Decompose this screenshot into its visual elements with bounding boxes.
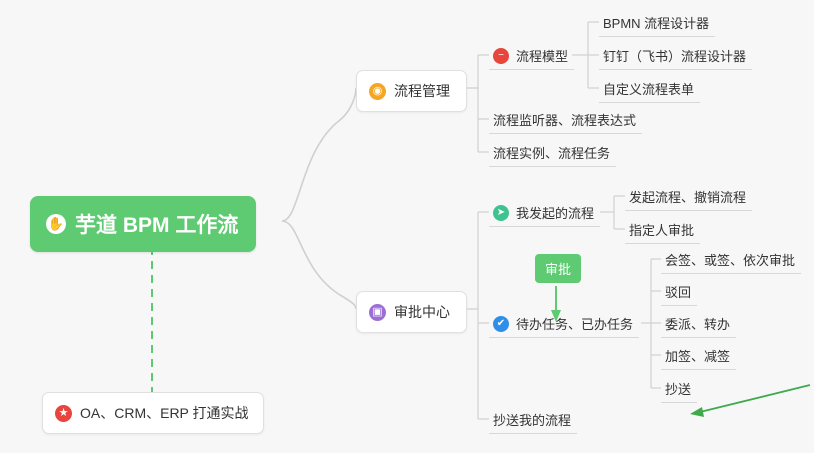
node-process-model-label: 流程模型 <box>516 46 568 65</box>
node-cc-to-me-label: 抄送我的流程 <box>493 410 571 429</box>
branch-process-management[interactable]: ◉ 流程管理 <box>356 70 467 112</box>
node-todo-done-task-label: 待办任务、已办任务 <box>516 314 633 333</box>
node-reject-label: 驳回 <box>665 282 691 301</box>
node-cc-to-me[interactable]: 抄送我的流程 <box>489 407 577 434</box>
root-node[interactable]: ✋ 芋道 BPM 工作流 <box>30 196 256 252</box>
star-circle-icon: ★ <box>55 405 72 422</box>
thumbs-up-icon: ✋ <box>46 214 66 234</box>
footnote-node[interactable]: ★ OA、CRM、ERP 打通实战 <box>42 392 264 434</box>
node-reject[interactable]: 驳回 <box>661 279 697 306</box>
location-pin-icon: ◉ <box>369 83 386 100</box>
branch-process-management-label: 流程管理 <box>394 81 450 101</box>
node-my-started-process-label: 我发起的流程 <box>516 203 594 222</box>
node-start-cancel-process-label: 发起流程、撤销流程 <box>629 187 746 206</box>
node-delegate-transfer-label: 委派、转办 <box>665 314 730 333</box>
node-dingtalk-designer-label: 钉钉（飞书）流程设计器 <box>603 46 746 65</box>
node-instance-task[interactable]: 流程实例、流程任务 <box>489 140 616 167</box>
node-assigned-approver-label: 指定人审批 <box>629 220 694 239</box>
node-dingtalk-designer[interactable]: 钉钉（飞书）流程设计器 <box>599 43 752 70</box>
node-cc-label: 抄送 <box>665 379 691 398</box>
node-assigned-approver[interactable]: 指定人审批 <box>625 217 700 244</box>
branch-approval-center-label: 审批中心 <box>394 302 450 322</box>
node-process-model[interactable]: − 流程模型 <box>489 43 574 70</box>
node-cc[interactable]: 抄送 <box>661 376 697 403</box>
node-todo-done-task[interactable]: ✔ 待办任务、已办任务 <box>489 311 639 338</box>
node-custom-form-label: 自定义流程表单 <box>603 79 694 98</box>
node-my-started-process[interactable]: ➤ 我发起的流程 <box>489 200 600 227</box>
callout-approval: 审批 <box>535 254 581 283</box>
node-delegate-transfer[interactable]: 委派、转办 <box>661 311 736 338</box>
check-circle-icon: ✔ <box>493 316 509 332</box>
mindmap-canvas: ✋ 芋道 BPM 工作流 ◉ 流程管理 − 流程模型 BPMN 流程设计器 钉钉… <box>0 0 814 453</box>
node-countersign-label: 会签、或签、依次审批 <box>665 250 795 269</box>
node-custom-form[interactable]: 自定义流程表单 <box>599 76 700 103</box>
node-start-cancel-process[interactable]: 发起流程、撤销流程 <box>625 184 752 211</box>
minus-circle-icon: − <box>493 48 509 64</box>
node-bpmn-designer[interactable]: BPMN 流程设计器 <box>599 10 715 37</box>
node-listener-expression-label: 流程监听器、流程表达式 <box>493 110 636 129</box>
inbox-icon: ▣ <box>369 304 386 321</box>
callout-approval-label: 审批 <box>545 262 571 277</box>
node-countersign[interactable]: 会签、或签、依次审批 <box>661 247 801 274</box>
root-node-label: 芋道 BPM 工作流 <box>75 209 238 239</box>
node-add-remove-sign[interactable]: 加签、减签 <box>661 343 736 370</box>
branch-approval-center[interactable]: ▣ 审批中心 <box>356 291 467 333</box>
send-icon: ➤ <box>493 205 509 221</box>
node-listener-expression[interactable]: 流程监听器、流程表达式 <box>489 107 642 134</box>
node-instance-task-label: 流程实例、流程任务 <box>493 143 610 162</box>
node-bpmn-designer-label: BPMN 流程设计器 <box>603 13 709 32</box>
footnote-node-label: OA、CRM、ERP 打通实战 <box>80 403 249 423</box>
node-add-remove-sign-label: 加签、减签 <box>665 346 730 365</box>
